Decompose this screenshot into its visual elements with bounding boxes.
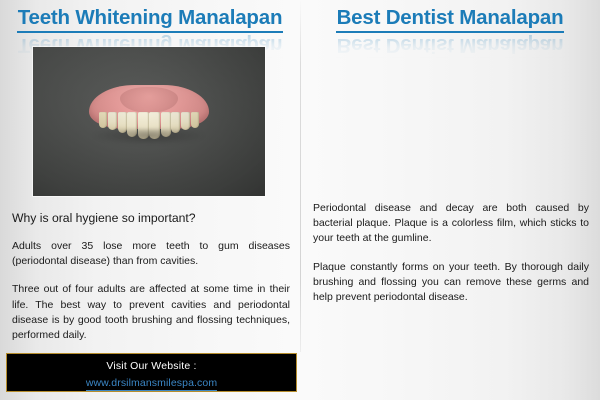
- right-title-block: Best Dentist Manalapan Best Dentist Mana…: [300, 6, 600, 54]
- right-panel: Best Dentist Manalapan Best Dentist Mana…: [300, 0, 600, 400]
- left-heading: Why is oral hygiene so important?: [12, 210, 290, 226]
- left-paragraph-2: Three out of four adults are affected at…: [12, 282, 290, 343]
- right-paragraph-2: Plaque constantly forms on your teeth. B…: [313, 260, 589, 306]
- left-visit-label: Visit Our Website :: [7, 360, 296, 373]
- left-body-copy: Why is oral hygiene so important? Adults…: [12, 210, 290, 343]
- left-footer-cta[interactable]: Visit Our Website : www.drsilmansmilespa…: [6, 353, 297, 392]
- right-title: Best Dentist Manalapan: [336, 6, 565, 33]
- right-title-reflection: Best Dentist Manalapan: [300, 32, 600, 59]
- right-paragraph-1: Periodontal disease and decay are both c…: [313, 201, 589, 247]
- left-paragraph-1: Adults over 35 lose more teeth to gum di…: [12, 239, 290, 269]
- left-title: Teeth Whitening Manalapan: [17, 6, 284, 33]
- poster-canvas: Teeth Whitening Manalapan Teeth Whitenin…: [0, 0, 600, 400]
- denture-photo: [33, 47, 265, 196]
- photo-vignette: [33, 47, 265, 196]
- left-website-link[interactable]: www.drsilmansmilespa.com: [86, 377, 217, 391]
- right-body-copy: Periodontal disease and decay are both c…: [313, 201, 589, 305]
- right-title-reflection-text: Best Dentist Manalapan: [336, 32, 565, 59]
- left-panel: Teeth Whitening Manalapan Teeth Whitenin…: [0, 0, 300, 400]
